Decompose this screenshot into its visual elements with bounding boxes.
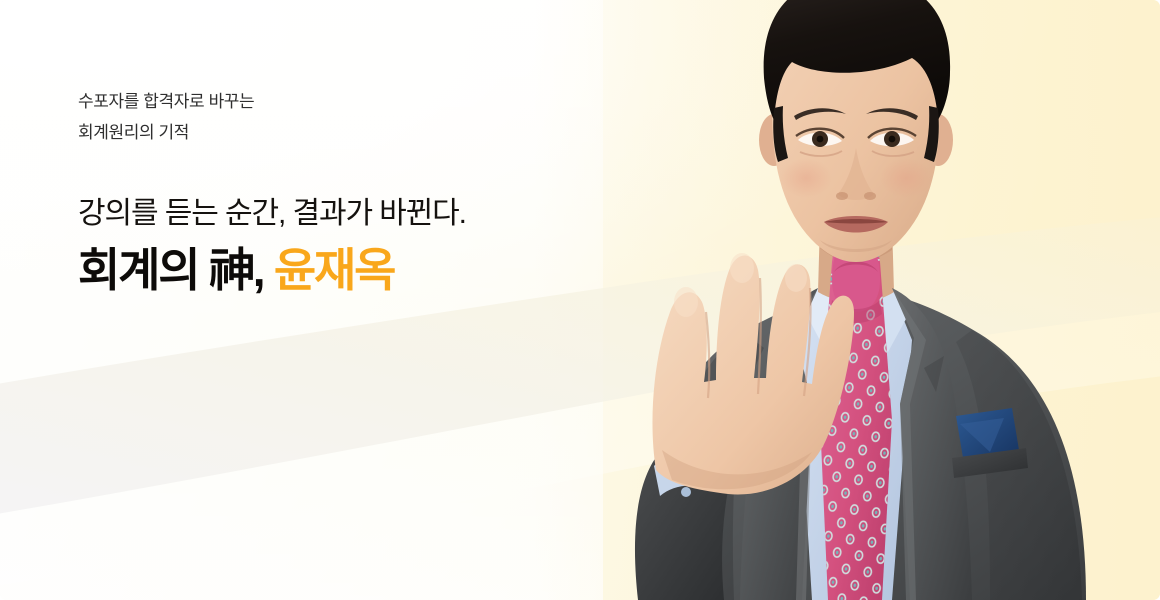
promo-banner: 수포자를 합격자로 바꾸는 회계원리의 기적 강의를 듣는 순간, 결과가 바뀐… bbox=[0, 0, 1160, 600]
headline-line-1: 강의를 듣는 순간, 결과가 바뀐다. bbox=[78, 194, 466, 234]
copy-block: 수포자를 합격자로 바꾸는 회계원리의 기적 강의를 듣는 순간, 결과가 바뀐… bbox=[78, 86, 466, 299]
eyebrow-line-1: 수포자를 합격자로 바꾸는 bbox=[78, 86, 466, 117]
instructor-name: 윤재옥 bbox=[274, 244, 394, 296]
headline-line-2-prefix: 회계의 神, bbox=[78, 244, 274, 296]
headline-line-2: 회계의 神, 윤재옥 bbox=[78, 241, 466, 299]
eyebrow-line-2: 회계원리의 기적 bbox=[78, 117, 466, 148]
headline-block: 강의를 듣는 순간, 결과가 바뀐다. 회계의 神, 윤재옥 bbox=[78, 194, 466, 299]
